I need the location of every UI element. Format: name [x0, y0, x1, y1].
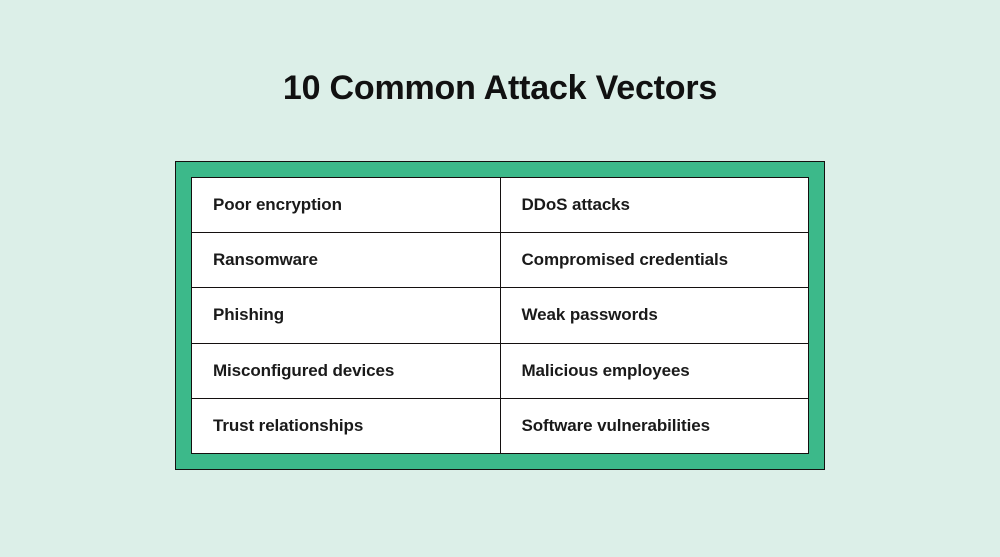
attack-vector-cell: Trust relationships: [192, 398, 501, 453]
table-row: Trust relationships Software vulnerabili…: [192, 398, 809, 453]
table-row: Misconfigured devices Malicious employee…: [192, 343, 809, 398]
attack-vector-cell: DDoS attacks: [500, 178, 809, 233]
attack-vector-cell: Phishing: [192, 288, 501, 343]
attack-vector-cell: Software vulnerabilities: [500, 398, 809, 453]
attack-vectors-table: Poor encryption DDoS attacks Ransomware …: [191, 177, 809, 454]
attack-vectors-panel: Poor encryption DDoS attacks Ransomware …: [175, 161, 825, 470]
infographic-canvas: 10 Common Attack Vectors Poor encryption…: [0, 0, 1000, 557]
table-row: Poor encryption DDoS attacks: [192, 178, 809, 233]
attack-vector-cell: Malicious employees: [500, 343, 809, 398]
page-title: 10 Common Attack Vectors: [0, 66, 1000, 110]
attack-vector-cell: Misconfigured devices: [192, 343, 501, 398]
attack-vector-cell: Compromised credentials: [500, 233, 809, 288]
table-row: Phishing Weak passwords: [192, 288, 809, 343]
attack-vector-cell: Poor encryption: [192, 178, 501, 233]
attack-vector-cell: Weak passwords: [500, 288, 809, 343]
attack-vector-cell: Ransomware: [192, 233, 501, 288]
table-row: Ransomware Compromised credentials: [192, 233, 809, 288]
